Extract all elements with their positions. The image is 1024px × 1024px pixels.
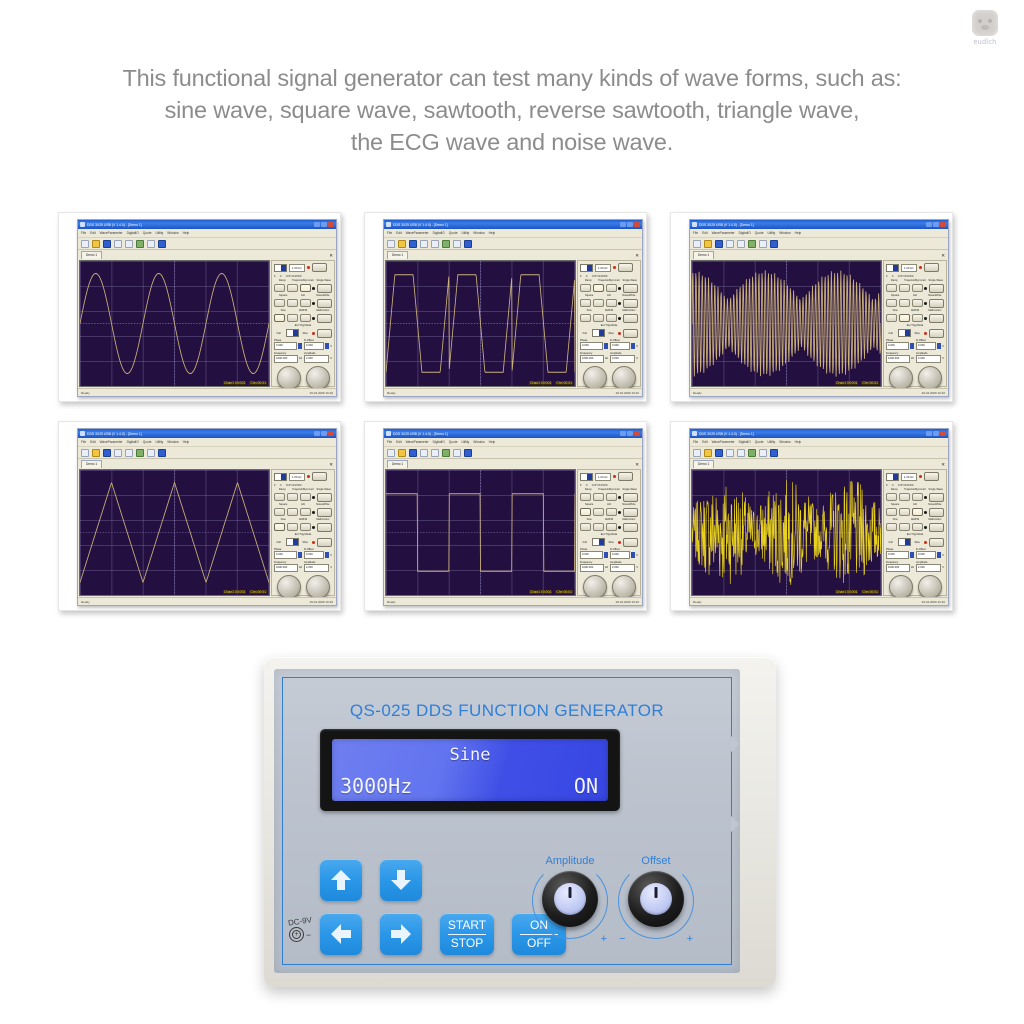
settings-icon[interactable] xyxy=(147,240,155,248)
menu-item[interactable]: Help xyxy=(489,440,496,444)
amplitude-dial[interactable] xyxy=(918,366,942,390)
ext-trig-switch[interactable] xyxy=(592,329,605,337)
stop-icon[interactable] xyxy=(464,449,472,457)
tab-demo1[interactable]: Demo 1 xyxy=(387,251,408,259)
wave-button[interactable] xyxy=(300,284,311,292)
wave-button[interactable] xyxy=(287,314,298,322)
tab-demo1[interactable]: Demo 1 xyxy=(81,251,102,259)
output-onoff-button[interactable] xyxy=(618,263,633,272)
offset-spinner[interactable] xyxy=(937,552,941,558)
mode-button[interactable] xyxy=(929,508,944,517)
phase-spinner[interactable] xyxy=(604,343,608,349)
copy-icon[interactable] xyxy=(431,240,439,248)
phase-spinner[interactable] xyxy=(910,552,914,558)
frequency-input[interactable]: 1000.000 xyxy=(886,564,910,572)
wave-button[interactable] xyxy=(606,299,617,307)
left-button[interactable] xyxy=(320,913,362,955)
channel-switch[interactable] xyxy=(580,264,593,272)
frequency-input[interactable]: 1000.000 xyxy=(274,355,298,363)
close-button[interactable] xyxy=(634,222,640,227)
open-folder-icon[interactable] xyxy=(92,240,100,248)
offset-knob[interactable] xyxy=(628,871,684,927)
menu-item[interactable]: Edit xyxy=(702,231,708,235)
wave-button[interactable] xyxy=(274,508,285,516)
copy-icon[interactable] xyxy=(125,449,133,457)
menu-item[interactable]: File xyxy=(81,440,86,444)
ext-trig-switch[interactable] xyxy=(592,538,605,546)
settings-icon[interactable] xyxy=(147,449,155,457)
menu-item[interactable]: WaveParameter xyxy=(406,231,429,235)
burst-onoff-button[interactable] xyxy=(623,538,638,547)
wave-button[interactable] xyxy=(912,299,923,307)
wave-button[interactable] xyxy=(580,314,591,322)
amplitude-dial[interactable] xyxy=(306,366,330,390)
run-icon[interactable] xyxy=(748,240,756,248)
new-file-icon[interactable] xyxy=(81,449,89,457)
offset-input[interactable]: 0.000 xyxy=(916,342,936,350)
save-icon[interactable] xyxy=(103,449,111,457)
mode-button[interactable] xyxy=(623,523,638,532)
minimize-button[interactable] xyxy=(926,222,932,227)
offset-input[interactable]: 0.000 xyxy=(304,551,324,559)
mode-button[interactable] xyxy=(929,284,944,293)
maximize-button[interactable] xyxy=(321,222,327,227)
wave-button[interactable] xyxy=(300,299,311,307)
offset-spinner[interactable] xyxy=(631,552,635,558)
wave-button[interactable] xyxy=(287,299,298,307)
wave-button[interactable] xyxy=(580,508,591,516)
settings-icon[interactable] xyxy=(453,240,461,248)
menu-item[interactable]: File xyxy=(387,231,392,235)
ext-trig-rise[interactable]: Rise xyxy=(607,541,617,544)
wave-button[interactable] xyxy=(300,314,311,322)
menu-item[interactable]: DigitalIO xyxy=(127,231,139,235)
tab-demo1[interactable]: Demo 1 xyxy=(81,460,102,468)
amplitude-input[interactable]: 2.000 xyxy=(304,355,329,363)
run-icon[interactable] xyxy=(136,449,144,457)
amplitude-knob[interactable] xyxy=(542,871,598,927)
print-icon[interactable] xyxy=(420,449,428,457)
menu-item[interactable]: File xyxy=(387,440,392,444)
close-button[interactable] xyxy=(940,431,946,436)
close-tab-icon[interactable]: ✕ xyxy=(329,252,333,259)
wave-button[interactable] xyxy=(899,523,910,531)
menu-item[interactable]: WaveParameter xyxy=(712,440,735,444)
maximize-button[interactable] xyxy=(933,431,939,436)
wave-button[interactable] xyxy=(912,493,923,501)
mode-button[interactable] xyxy=(929,493,944,502)
settings-icon[interactable] xyxy=(759,449,767,457)
close-tab-icon[interactable]: ✕ xyxy=(635,252,639,259)
print-icon[interactable] xyxy=(114,240,122,248)
right-button[interactable] xyxy=(380,913,422,955)
burst-onoff-button[interactable] xyxy=(929,329,944,338)
ext-trig-rise[interactable]: Rise xyxy=(913,541,923,544)
tab-demo1[interactable]: Demo 1 xyxy=(693,460,714,468)
wave-button[interactable] xyxy=(606,314,617,322)
wave-button[interactable] xyxy=(886,299,897,307)
screenshot-thumbnail[interactable]: DDS 3X25 USB (V 1.4.0) - [Demo 1] FileEd… xyxy=(58,421,341,611)
output-onoff-button[interactable] xyxy=(312,263,327,272)
menu-item[interactable]: Quote xyxy=(449,231,458,235)
wave-button[interactable] xyxy=(606,493,617,501)
ext-trig-full[interactable]: Full xyxy=(886,541,896,544)
frequency-dial[interactable] xyxy=(583,575,607,599)
menu-item[interactable]: Help xyxy=(795,440,802,444)
menu-item[interactable]: Window xyxy=(473,231,484,235)
stop-icon[interactable] xyxy=(770,240,778,248)
frequency-input[interactable]: 1000.000 xyxy=(580,564,604,572)
wave-button[interactable] xyxy=(912,523,923,531)
wave-button[interactable] xyxy=(274,493,285,501)
wave-button[interactable] xyxy=(593,493,604,501)
frequency-dial[interactable] xyxy=(277,366,301,390)
wave-button[interactable] xyxy=(899,508,910,516)
output-onoff-button[interactable] xyxy=(924,263,939,272)
copy-icon[interactable] xyxy=(737,240,745,248)
wave-button[interactable] xyxy=(287,284,298,292)
offset-input[interactable]: 0.000 xyxy=(916,551,936,559)
offset-input[interactable]: 0.000 xyxy=(610,342,630,350)
mode-button[interactable] xyxy=(623,299,638,308)
menu-item[interactable]: Edit xyxy=(90,231,96,235)
wave-button[interactable] xyxy=(606,508,617,516)
wave-button[interactable] xyxy=(274,299,285,307)
open-folder-icon[interactable] xyxy=(398,240,406,248)
new-file-icon[interactable] xyxy=(693,449,701,457)
stop-icon[interactable] xyxy=(158,449,166,457)
channel-switch[interactable] xyxy=(886,473,899,481)
menu-item[interactable]: DigitalIO xyxy=(739,231,751,235)
wave-button[interactable] xyxy=(580,284,591,292)
menu-item[interactable]: Window xyxy=(779,231,790,235)
maximize-button[interactable] xyxy=(627,222,633,227)
frequency-input[interactable]: 1000.000 xyxy=(274,564,298,572)
print-icon[interactable] xyxy=(726,240,734,248)
wave-button[interactable] xyxy=(912,314,923,322)
ext-trig-switch[interactable] xyxy=(286,329,299,337)
open-folder-icon[interactable] xyxy=(704,449,712,457)
new-file-icon[interactable] xyxy=(387,449,395,457)
run-icon[interactable] xyxy=(136,240,144,248)
burst-onoff-button[interactable] xyxy=(317,329,332,338)
frequency-dial[interactable] xyxy=(889,575,913,599)
screenshot-thumbnail[interactable]: DDS 3X25 USB (V 1.4.0) - [Demo 1] FileEd… xyxy=(670,421,953,611)
settings-icon[interactable] xyxy=(759,240,767,248)
wave-button[interactable] xyxy=(899,314,910,322)
wave-button[interactable] xyxy=(274,314,285,322)
menu-item[interactable]: Utility xyxy=(155,231,163,235)
minimize-button[interactable] xyxy=(620,431,626,436)
wave-button[interactable] xyxy=(912,508,923,516)
menu-item[interactable]: Edit xyxy=(396,231,402,235)
ext-trig-rise[interactable]: Rise xyxy=(301,332,311,335)
close-button[interactable] xyxy=(940,222,946,227)
wave-button[interactable] xyxy=(886,493,897,501)
mode-button[interactable] xyxy=(317,299,332,308)
wave-button[interactable] xyxy=(580,523,591,531)
menu-item[interactable]: Window xyxy=(167,440,178,444)
ext-trig-full[interactable]: Full xyxy=(274,332,284,335)
run-icon[interactable] xyxy=(442,449,450,457)
menu-item[interactable]: File xyxy=(81,231,86,235)
menu-item[interactable]: File xyxy=(693,440,698,444)
save-icon[interactable] xyxy=(409,449,417,457)
mode-button[interactable] xyxy=(929,314,944,323)
maximize-button[interactable] xyxy=(627,431,633,436)
copy-icon[interactable] xyxy=(125,240,133,248)
new-file-icon[interactable] xyxy=(387,240,395,248)
copy-icon[interactable] xyxy=(431,449,439,457)
wave-button[interactable] xyxy=(593,508,604,516)
wave-button[interactable] xyxy=(287,493,298,501)
menu-item[interactable]: Utility xyxy=(155,440,163,444)
menu-item[interactable]: Utility xyxy=(461,231,469,235)
frequency-input[interactable]: 1000.000 xyxy=(886,355,910,363)
menu-item[interactable]: WaveParameter xyxy=(406,440,429,444)
stop-icon[interactable] xyxy=(770,449,778,457)
mode-button[interactable] xyxy=(623,493,638,502)
run-icon[interactable] xyxy=(442,240,450,248)
button-label: Ramp xyxy=(274,279,291,282)
wave-button[interactable] xyxy=(886,523,897,531)
burst-onoff-button[interactable] xyxy=(623,329,638,338)
wave-button[interactable] xyxy=(886,314,897,322)
offset-spinner[interactable] xyxy=(325,343,329,349)
tab-demo1[interactable]: Demo 1 xyxy=(693,251,714,259)
close-button[interactable] xyxy=(328,222,334,227)
menu-item[interactable]: Utility xyxy=(767,231,775,235)
channel-switch[interactable] xyxy=(274,264,287,272)
menu-item[interactable]: DigitalIO xyxy=(433,440,445,444)
maximize-button[interactable] xyxy=(321,431,327,436)
wave-button[interactable] xyxy=(886,508,897,516)
frequency-input[interactable]: 1000.000 xyxy=(580,355,604,363)
minimize-button[interactable] xyxy=(314,222,320,227)
channel-switch[interactable] xyxy=(274,473,287,481)
ext-trig-switch[interactable] xyxy=(286,538,299,546)
menu-item[interactable]: Help xyxy=(795,231,802,235)
close-tab-icon[interactable]: ✕ xyxy=(941,252,945,259)
screenshot-thumbnail[interactable]: DDS 3X25 USB (V 1.4.0) - [Demo 1] FileEd… xyxy=(58,212,341,402)
save-icon[interactable] xyxy=(103,240,111,248)
mode-button[interactable] xyxy=(317,314,332,323)
mode-button[interactable] xyxy=(317,284,332,293)
amplitude-dial[interactable] xyxy=(918,575,942,599)
mode-button[interactable] xyxy=(623,314,638,323)
maximize-button[interactable] xyxy=(933,222,939,227)
wave-button[interactable] xyxy=(912,284,923,292)
amplitude-input[interactable]: 2.000 xyxy=(610,355,635,363)
minimize-button[interactable] xyxy=(926,431,932,436)
wave-button[interactable] xyxy=(593,299,604,307)
print-icon[interactable] xyxy=(726,449,734,457)
close-tab-icon[interactable]: ✕ xyxy=(329,461,333,468)
menu-item[interactable]: Help xyxy=(183,440,190,444)
phase-spinner[interactable] xyxy=(298,343,302,349)
wave-button[interactable] xyxy=(606,523,617,531)
wave-button[interactable] xyxy=(899,284,910,292)
menu-item[interactable]: DigitalIO xyxy=(433,231,445,235)
stop-icon[interactable] xyxy=(464,240,472,248)
wave-button[interactable] xyxy=(287,523,298,531)
phase-input[interactable]: 0.000 xyxy=(886,551,909,559)
menu-item[interactable]: Utility xyxy=(461,440,469,444)
minimize-button[interactable] xyxy=(314,431,320,436)
output-onoff-button[interactable] xyxy=(924,472,939,481)
frequency-dial[interactable] xyxy=(583,366,607,390)
menu-item[interactable]: Edit xyxy=(90,440,96,444)
ext-trig-full[interactable]: Full xyxy=(274,541,284,544)
channel-switch[interactable] xyxy=(886,264,899,272)
burst-onoff-button[interactable] xyxy=(929,538,944,547)
open-folder-icon[interactable] xyxy=(398,449,406,457)
phase-input[interactable]: 0.000 xyxy=(274,342,297,350)
ext-trig-switch[interactable] xyxy=(898,329,911,337)
ext-trig-rise[interactable]: Rise xyxy=(607,332,617,335)
settings-icon[interactable] xyxy=(453,449,461,457)
frequency-dial[interactable] xyxy=(277,575,301,599)
menu-item[interactable]: Quote xyxy=(143,440,152,444)
scope-tag: Chan1 00:001 xyxy=(529,381,552,385)
open-folder-icon[interactable] xyxy=(92,449,100,457)
status-bar: Ready 29.04.2009 16:20 xyxy=(78,388,336,396)
close-tab-icon[interactable]: ✕ xyxy=(635,461,639,468)
menu-item[interactable]: File xyxy=(693,231,698,235)
offset-spinner[interactable] xyxy=(325,552,329,558)
menu-item[interactable]: Quote xyxy=(755,440,764,444)
menu-item[interactable]: Quote xyxy=(143,231,152,235)
wave-button[interactable] xyxy=(300,493,311,501)
menu-item[interactable]: Window xyxy=(779,440,790,444)
down-button[interactable] xyxy=(380,859,422,901)
copy-icon[interactable] xyxy=(737,449,745,457)
wave-button[interactable] xyxy=(886,284,897,292)
wave-button[interactable] xyxy=(300,508,311,516)
wave-button[interactable] xyxy=(300,523,311,531)
menu-item[interactable]: Help xyxy=(183,231,190,235)
wave-button[interactable] xyxy=(287,508,298,516)
tab-demo1[interactable]: Demo 1 xyxy=(387,460,408,468)
print-icon[interactable] xyxy=(114,449,122,457)
wave-button[interactable] xyxy=(593,314,604,322)
up-button[interactable] xyxy=(320,859,362,901)
mode-button[interactable] xyxy=(317,493,332,502)
mode-button[interactable] xyxy=(623,508,638,517)
offset-input[interactable]: 0.000 xyxy=(610,551,630,559)
channel-switch[interactable] xyxy=(580,473,593,481)
output-onoff-button[interactable] xyxy=(618,472,633,481)
phase-spinner[interactable] xyxy=(604,552,608,558)
phase-input[interactable]: 0.000 xyxy=(886,342,909,350)
menu-item[interactable]: WaveParameter xyxy=(712,231,735,235)
frequency-dial[interactable] xyxy=(889,366,913,390)
ext-trig-rise[interactable]: Rise xyxy=(913,332,923,335)
print-icon[interactable] xyxy=(420,240,428,248)
amplitude-dial[interactable] xyxy=(612,366,636,390)
mode-button[interactable] xyxy=(317,508,332,517)
ext-trig-full[interactable]: Full xyxy=(886,332,896,335)
new-file-icon[interactable] xyxy=(81,240,89,248)
save-icon[interactable] xyxy=(715,449,723,457)
phase-spinner[interactable] xyxy=(910,343,914,349)
start-stop-button[interactable]: START STOP xyxy=(440,913,494,955)
amplitude-input[interactable]: 2.000 xyxy=(304,564,329,572)
offset-spinner[interactable] xyxy=(631,343,635,349)
mode-button[interactable] xyxy=(317,523,332,532)
menu-item[interactable]: DigitalIO xyxy=(739,440,751,444)
menu-item[interactable]: DigitalIO xyxy=(127,440,139,444)
stop-icon[interactable] xyxy=(158,240,166,248)
run-icon[interactable] xyxy=(748,449,756,457)
menu-item[interactable]: Quote xyxy=(755,231,764,235)
close-button[interactable] xyxy=(328,431,334,436)
ext-trig-rise[interactable]: Rise xyxy=(301,541,311,544)
close-button[interactable] xyxy=(634,431,640,436)
phase-input[interactable]: 0.000 xyxy=(580,551,603,559)
open-folder-icon[interactable] xyxy=(704,240,712,248)
ext-trig-switch[interactable] xyxy=(898,538,911,546)
wave-button[interactable] xyxy=(899,493,910,501)
screenshot-thumbnail[interactable]: DDS 3X25 USB (V 1.4.0) - [Demo 1] FileEd… xyxy=(670,212,953,402)
burst-onoff-button[interactable] xyxy=(317,538,332,547)
offset-input[interactable]: 0.000 xyxy=(304,342,324,350)
phase-spinner[interactable] xyxy=(298,552,302,558)
menu-item[interactable]: Window xyxy=(473,440,484,444)
menu-item[interactable]: Utility xyxy=(767,440,775,444)
wave-button[interactable] xyxy=(274,284,285,292)
screenshot-thumbnail[interactable]: DDS 3X25 USB (V 1.4.0) - [Demo 1] FileEd… xyxy=(364,421,647,611)
menu-item[interactable]: Help xyxy=(489,231,496,235)
mode-button[interactable] xyxy=(929,523,944,532)
menu-item[interactable]: Edit xyxy=(702,440,708,444)
save-icon[interactable] xyxy=(715,240,723,248)
offset-spinner[interactable] xyxy=(937,343,941,349)
amplitude-input[interactable]: 2.000 xyxy=(916,355,941,363)
wave-button[interactable] xyxy=(580,493,591,501)
menu-item[interactable]: Window xyxy=(167,231,178,235)
screenshot-thumbnail[interactable]: DDS 3X25 USB (V 1.4.0) - [Demo 1] FileEd… xyxy=(364,212,647,402)
amplitude-input[interactable]: 2.000 xyxy=(610,564,635,572)
menu-item[interactable]: Quote xyxy=(449,440,458,444)
close-tab-icon[interactable]: ✕ xyxy=(941,461,945,468)
ext-trig-full[interactable]: Full xyxy=(580,541,590,544)
button-label: TrapezoidSymmetr xyxy=(292,279,314,282)
amplitude-dial[interactable] xyxy=(612,575,636,599)
phase-input[interactable]: 0.000 xyxy=(580,342,603,350)
wave-button[interactable] xyxy=(606,284,617,292)
wave-button[interactable] xyxy=(593,284,604,292)
menu-item[interactable]: WaveParameter xyxy=(100,231,123,235)
amplitude-dial[interactable] xyxy=(306,575,330,599)
wave-button[interactable] xyxy=(274,523,285,531)
mode-button[interactable] xyxy=(623,284,638,293)
minimize-button[interactable] xyxy=(620,222,626,227)
mode-button[interactable] xyxy=(929,299,944,308)
menu-item[interactable]: Edit xyxy=(396,440,402,444)
wave-button[interactable] xyxy=(580,299,591,307)
output-onoff-button[interactable] xyxy=(312,472,327,481)
wave-button[interactable] xyxy=(899,299,910,307)
wave-button[interactable] xyxy=(593,523,604,531)
new-file-icon[interactable] xyxy=(693,240,701,248)
phase-input[interactable]: 0.000 xyxy=(274,551,297,559)
menu-item[interactable]: WaveParameter xyxy=(100,440,123,444)
amplitude-input[interactable]: 2.000 xyxy=(916,564,941,572)
ext-trig-full[interactable]: Full xyxy=(580,332,590,335)
save-icon[interactable] xyxy=(409,240,417,248)
panel-knobs xyxy=(886,366,944,390)
